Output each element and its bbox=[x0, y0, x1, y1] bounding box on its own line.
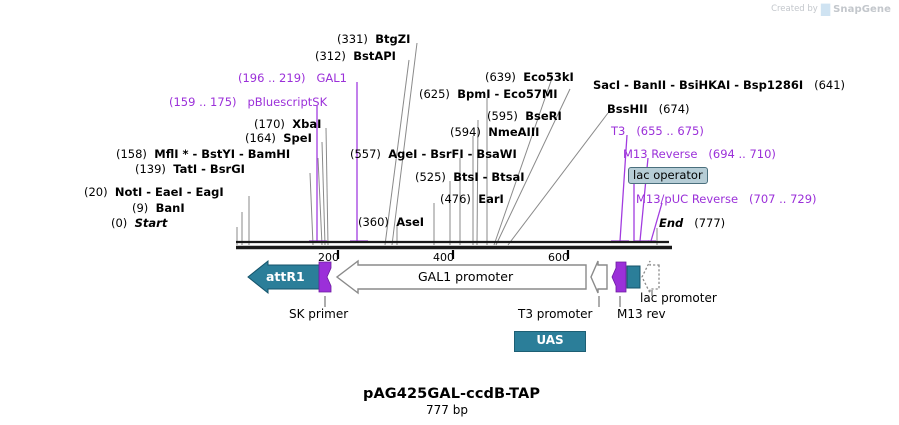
enzyme-names: BstAPI bbox=[353, 49, 396, 63]
lac-operator-label-box[interactable]: lac operator bbox=[628, 167, 708, 184]
terminal-position: (777) bbox=[694, 216, 725, 230]
enzyme-names: EarI bbox=[478, 192, 504, 206]
enzyme-label-bstapi: (312) BstAPI bbox=[315, 51, 396, 63]
feature-name: M13/pUC Reverse bbox=[636, 192, 738, 206]
map-feature-m13-rev[interactable] bbox=[612, 262, 626, 292]
enzyme-names: BssHII bbox=[607, 102, 648, 116]
enzyme-names: BseRI bbox=[525, 109, 562, 123]
enzyme-label-mfli-group: (158) MflI * - BstYI - BamHI bbox=[116, 149, 290, 161]
plasmid-length-label: 777 bp bbox=[426, 403, 468, 417]
enzyme-label-asei: (360) AseI bbox=[358, 217, 424, 229]
enzyme-label-bani: (9) BanI bbox=[132, 203, 185, 215]
callout-label-t3-promoter: T3 promoter bbox=[518, 307, 592, 321]
enzyme-names: XbaI bbox=[292, 117, 321, 131]
enzyme-label-eari: (476) EarI bbox=[440, 194, 504, 206]
feature-label-gal1: (196 .. 219) GAL1 bbox=[238, 73, 347, 85]
ruler-tick-label-600: 600 bbox=[548, 251, 569, 264]
enzyme-label-nmeaiii: (594) NmeAIII bbox=[450, 127, 539, 139]
map-feature-lac-operator[interactable] bbox=[627, 266, 640, 288]
feature-name: pBluescriptSK bbox=[247, 95, 327, 109]
enzyme-position: (158) bbox=[116, 147, 147, 161]
enzyme-label-tati-group: (139) TatI - BsrGI bbox=[135, 164, 245, 176]
feature-name: M13 Reverse bbox=[623, 147, 697, 161]
map-feature-t3-promoter[interactable] bbox=[591, 261, 607, 293]
plasmid-name-title: pAG425GAL-ccdB-TAP bbox=[363, 386, 540, 402]
map-feature-label-attr1: attR1 bbox=[266, 271, 305, 284]
feature-label-t3: T3 (655 .. 675) bbox=[611, 126, 704, 138]
enzyme-position: (139) bbox=[135, 162, 166, 176]
enzyme-position: (170) bbox=[254, 117, 285, 131]
feature-range: (196 .. 219) bbox=[238, 71, 306, 85]
ruler-tick-label-400: 400 bbox=[433, 251, 454, 264]
enzyme-label-bpmi: (625) BpmI - Eco57MI bbox=[419, 89, 558, 101]
enzyme-label-spei: (164) SpeI bbox=[245, 133, 312, 145]
enzyme-label-eco53ki: (639) Eco53kI bbox=[485, 72, 574, 84]
feature-label-m13-reverse: M13 Reverse (694 .. 710) bbox=[623, 149, 776, 161]
enzyme-names: BtgZI bbox=[375, 32, 410, 46]
map-feature-sk-primer[interactable] bbox=[319, 262, 331, 292]
feature-range: (694 .. 710) bbox=[708, 147, 776, 161]
enzyme-names: NotI - EaeI - EagI bbox=[115, 185, 224, 199]
enzyme-position: (9) bbox=[132, 201, 148, 215]
enzyme-label-saci-group: SacI - BanII - BsiHKAI - Bsp1286I (641) bbox=[593, 80, 845, 92]
enzyme-names: SacI - BanII - BsiHKAI - Bsp1286I bbox=[593, 78, 803, 92]
feature-range: (707 .. 729) bbox=[749, 192, 817, 206]
enzyme-names: Eco53kI bbox=[523, 70, 574, 84]
enzyme-position: (595) bbox=[487, 109, 518, 123]
feature-range: (159 .. 175) bbox=[169, 95, 237, 109]
enzyme-label-agei-group: (557) AgeI - BsrFI - BsaWI bbox=[350, 149, 517, 161]
map-feature-label-gal1-promoter: GAL1 promoter bbox=[418, 271, 513, 284]
callout-label-sk-primer: SK primer bbox=[289, 307, 348, 321]
terminal-position: (0) bbox=[111, 216, 127, 230]
feature-callout-ticks bbox=[325, 290, 652, 307]
ruler-tick-label-200: 200 bbox=[318, 251, 339, 264]
feature-name: T3 bbox=[611, 124, 625, 138]
enzyme-position: (625) bbox=[419, 87, 450, 101]
enzyme-names: NmeAIII bbox=[488, 125, 539, 139]
enzyme-names: AgeI - BsrFI - BsaWI bbox=[388, 147, 517, 161]
enzyme-position: (594) bbox=[450, 125, 481, 139]
enzyme-position: (20) bbox=[84, 185, 108, 199]
enzyme-names: BpmI - Eco57MI bbox=[457, 87, 557, 101]
enzyme-position: (639) bbox=[485, 70, 516, 84]
enzyme-position: (360) bbox=[358, 215, 389, 229]
map-feature-lac-promoter[interactable] bbox=[642, 261, 659, 293]
enzyme-names: BanI bbox=[156, 201, 185, 215]
enzyme-label-btgzi: (331) BtgZI bbox=[337, 34, 410, 46]
enzyme-label-btsi-group: (525) BtsI - BtsaI bbox=[415, 172, 525, 184]
enzyme-names: TatI - BsrGI bbox=[173, 162, 245, 176]
feature-label-m13-puc-reverse: M13/pUC Reverse (707 .. 729) bbox=[636, 194, 817, 206]
enzyme-position: (674) bbox=[659, 102, 690, 116]
enzyme-position: (641) bbox=[814, 78, 845, 92]
enzyme-label-bsshii: BssHII (674) bbox=[607, 104, 690, 116]
feature-range: (655 .. 675) bbox=[636, 124, 704, 138]
terminal-text: Start bbox=[135, 216, 168, 230]
feature-label-pbluescriptsk: (159 .. 175) pBluescriptSK bbox=[169, 97, 327, 109]
callout-label-lac-promoter: lac promoter bbox=[640, 291, 717, 305]
enzyme-position: (164) bbox=[245, 131, 276, 145]
callout-label-m13-rev: M13 rev bbox=[617, 307, 666, 321]
feature-name: GAL1 bbox=[316, 71, 347, 85]
terminal-label-end: End (777) bbox=[659, 218, 725, 230]
enzyme-label-noti-group: (20) NotI - EaeI - EagI bbox=[84, 187, 224, 199]
enzyme-position: (525) bbox=[415, 170, 446, 184]
enzyme-names: BtsI - BtsaI bbox=[453, 170, 524, 184]
enzyme-position: (476) bbox=[440, 192, 471, 206]
terminal-label-start: (0) Start bbox=[111, 218, 167, 230]
enzyme-names: SpeI bbox=[283, 131, 312, 145]
terminal-text: End bbox=[659, 216, 683, 230]
enzyme-names: AseI bbox=[396, 215, 424, 229]
enzyme-names: MflI * - BstYI - BamHI bbox=[154, 147, 290, 161]
enzyme-position: (312) bbox=[315, 49, 346, 63]
enzyme-label-bseri: (595) BseRI bbox=[487, 111, 562, 123]
plasmid-backbone bbox=[236, 242, 672, 248]
enzyme-position: (331) bbox=[337, 32, 368, 46]
enzyme-position: (557) bbox=[350, 147, 381, 161]
enzyme-label-xbai: (170) XbaI bbox=[254, 119, 321, 131]
uas-feature-box[interactable]: UAS bbox=[514, 331, 586, 352]
